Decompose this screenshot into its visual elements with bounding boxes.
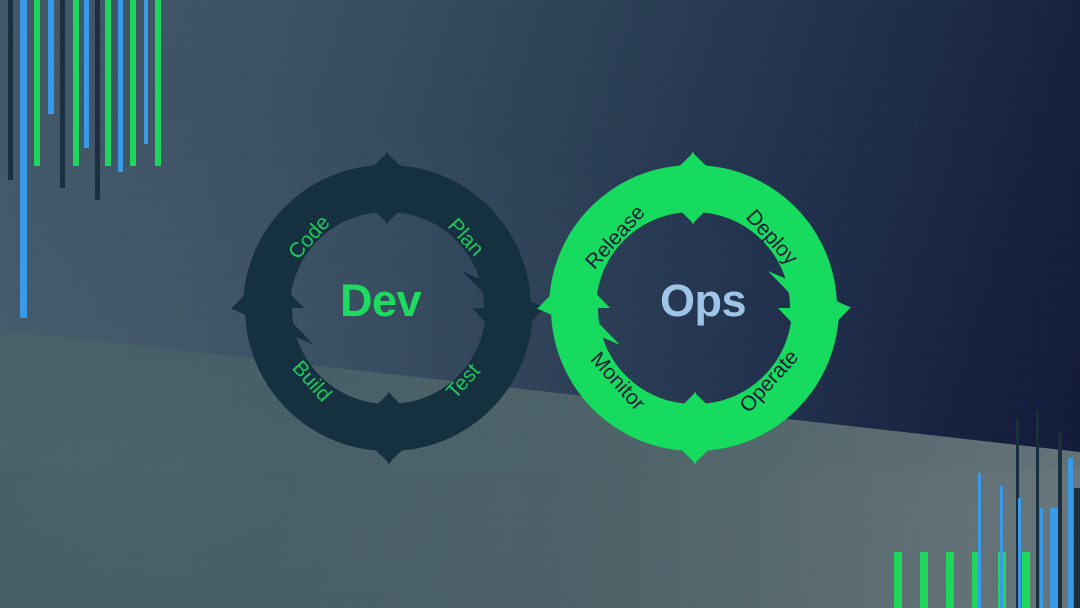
decor-bar [155,0,161,166]
dev-center-label: Dev [340,275,421,327]
decor-bar [946,552,954,608]
decor-bar [60,0,65,188]
decor-bar [20,0,27,318]
decor-bar [1000,486,1003,608]
decor-bar [144,0,148,144]
decor-bar [105,0,111,166]
decor-bar [1050,508,1058,608]
decor-bar [48,0,54,114]
decor-bar [1058,433,1062,608]
decor-bar [130,0,136,166]
decor-bar [1036,410,1039,608]
decor-bar [8,0,13,180]
decor-bar [84,0,89,148]
decor-bar [920,552,928,608]
decor-bar [73,0,79,166]
devops-infinity-diagram: Plan Test Build Code Dev [0,0,1080,608]
decor-bar [1040,508,1043,608]
decor-bar [1068,458,1073,608]
decor-bar [34,0,40,166]
decor-bar [978,473,981,608]
decor-bar [894,552,902,608]
decor-bar [1018,498,1021,608]
decor-bar [95,0,100,200]
decor-bar [118,0,123,172]
decor-bar [1022,552,1030,608]
decor-bar [1074,488,1080,608]
ops-center-label: Ops [660,275,746,327]
decor-bars-top-left [0,0,200,330]
